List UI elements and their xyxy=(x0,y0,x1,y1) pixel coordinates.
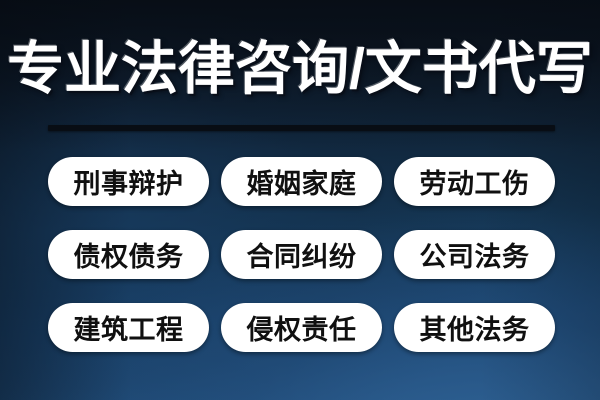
service-pill-grid: 刑事辩护 婚姻家庭 劳动工伤 债权债务 合同纠纷 公司法务 建筑工程 侵权责任 … xyxy=(48,157,555,352)
page-title: 专业法律咨询/文书代写 xyxy=(0,34,600,104)
service-pill-marriage-family[interactable]: 婚姻家庭 xyxy=(221,157,382,206)
service-pill-contract-dispute[interactable]: 合同纠纷 xyxy=(221,230,382,279)
service-pill-corporate-legal[interactable]: 公司法务 xyxy=(394,230,555,279)
service-pill-other-legal[interactable]: 其他法务 xyxy=(394,303,555,352)
service-row-2: 债权债务 合同纠纷 公司法务 xyxy=(48,230,555,279)
service-pill-labor-injury[interactable]: 劳动工伤 xyxy=(394,157,555,206)
service-row-1: 刑事辩护 婚姻家庭 劳动工伤 xyxy=(48,157,555,206)
legal-services-banner: 专业法律咨询/文书代写 刑事辩护 婚姻家庭 劳动工伤 债权债务 合同纠纷 公司法… xyxy=(0,0,600,400)
service-pill-tort-liability[interactable]: 侵权责任 xyxy=(221,303,382,352)
service-pill-creditor-debt[interactable]: 债权债务 xyxy=(48,230,209,279)
title-divider xyxy=(48,125,555,131)
banner-content: 专业法律咨询/文书代写 刑事辩护 婚姻家庭 劳动工伤 债权债务 合同纠纷 公司法… xyxy=(0,0,600,400)
service-row-3: 建筑工程 侵权责任 其他法务 xyxy=(48,303,555,352)
service-pill-criminal-defense[interactable]: 刑事辩护 xyxy=(48,157,209,206)
service-pill-construction-engineering[interactable]: 建筑工程 xyxy=(48,303,209,352)
